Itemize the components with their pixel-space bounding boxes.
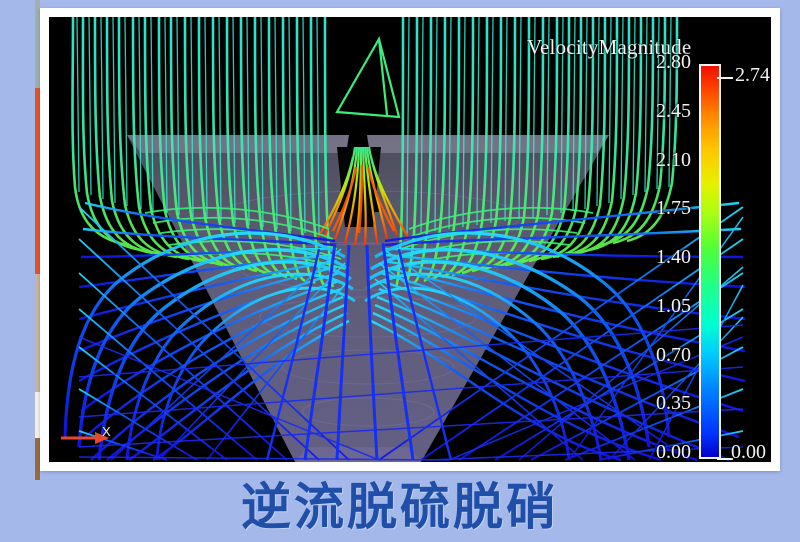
colorbar-tick: 0.70 (656, 344, 691, 367)
triangle-streamline-loop (337, 39, 399, 117)
colorbar-tick-labels: 2.802.452.101.751.401.050.700.350.00 (609, 53, 691, 462)
axis-label-x: X (102, 424, 111, 439)
colorbar-tick: 2.80 (656, 51, 691, 74)
colorbar-tick: 2.45 (656, 100, 691, 123)
colorbar-max-label: 2.74 (735, 64, 770, 87)
colorbar-gradient[interactable] (699, 64, 721, 459)
colorbar-tick: 1.75 (656, 197, 691, 220)
image-frame: X VelocityMagnitude 2.802.452.101.751.40… (40, 8, 780, 471)
axis-indicator: X (59, 424, 117, 446)
colorbar-max-tickmark (717, 77, 733, 79)
screenshot-root: X VelocityMagnitude 2.802.452.101.751.40… (0, 0, 800, 542)
colorbar-tick: 0.35 (656, 392, 691, 415)
colorbar-tick: 0.00 (656, 441, 691, 462)
colorbar-tick: 1.40 (656, 246, 691, 269)
colorbar-min-label: 0.00 (731, 441, 766, 462)
cfd-render-viewport[interactable]: X VelocityMagnitude 2.802.452.101.751.40… (49, 17, 771, 462)
colorbar-tick: 2.10 (656, 149, 691, 172)
colorbar-tick: 1.05 (656, 295, 691, 318)
caption-text: 逆流脱硫脱硝 (0, 478, 800, 536)
image-frame-inner: X VelocityMagnitude 2.802.452.101.751.40… (49, 17, 771, 462)
